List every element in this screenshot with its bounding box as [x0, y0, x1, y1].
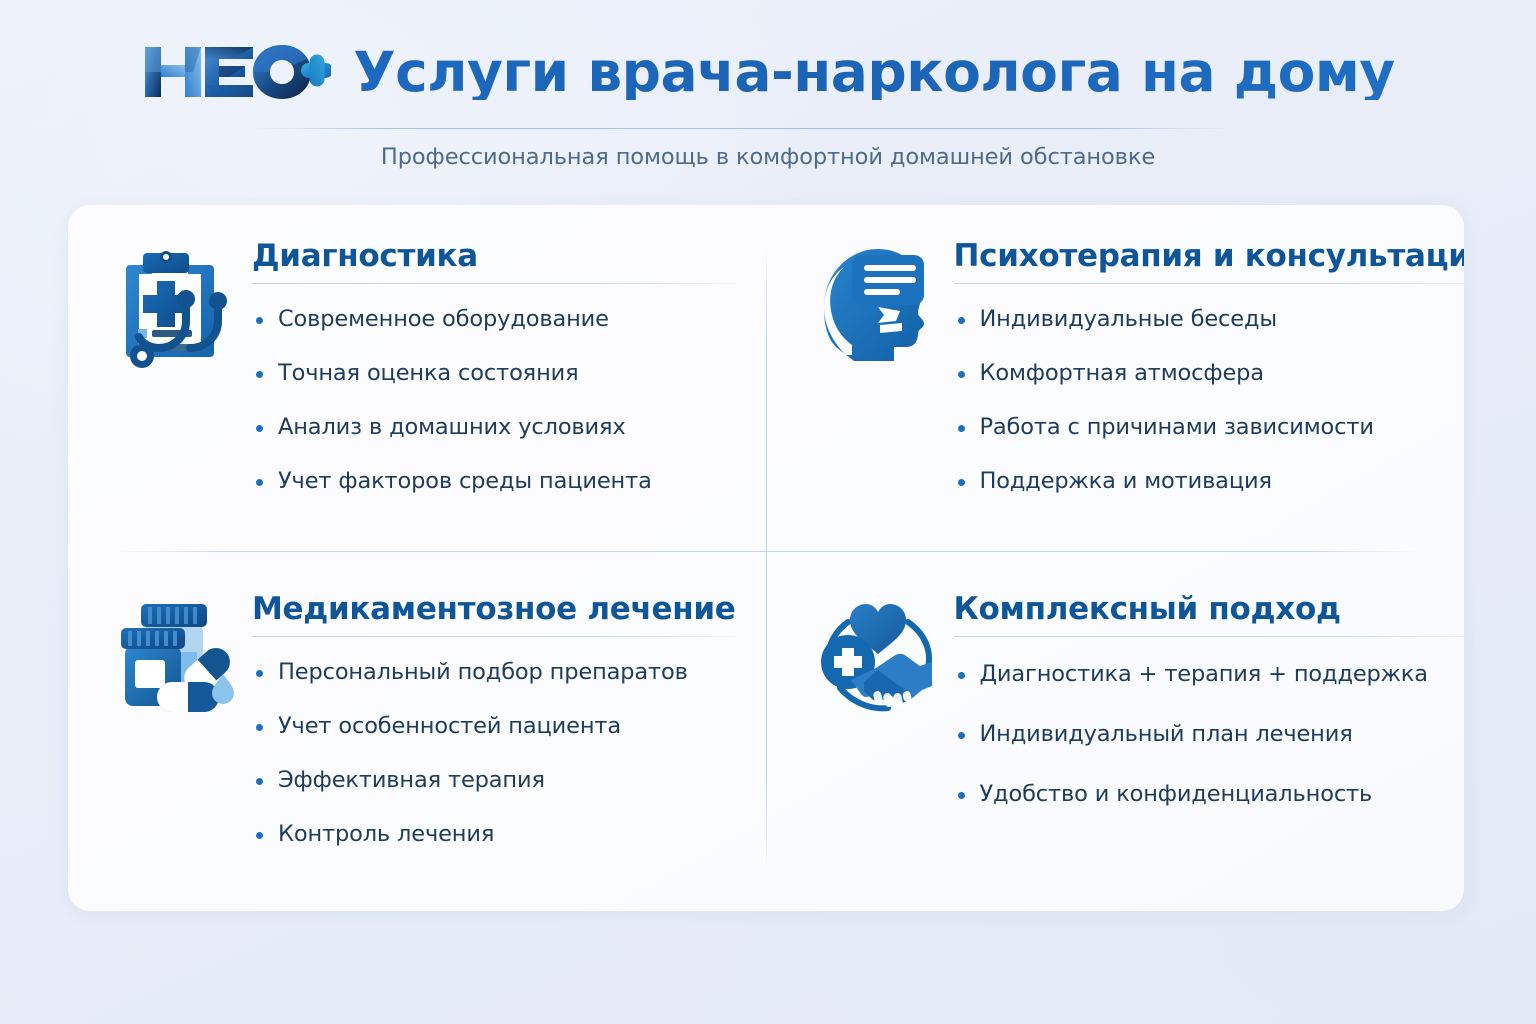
header-divider: [252, 128, 1232, 129]
page-subtitle: Профессиональная помощь в комфортной дом…: [0, 144, 1536, 170]
list-item: Точная оценка состояния: [252, 360, 736, 387]
head-speech-bubble-icon: [812, 243, 944, 375]
card-title-divider: [252, 283, 736, 284]
neo-plus-logo: [141, 40, 331, 104]
list-item: Диагностика + терапия + поддержка: [954, 661, 1465, 688]
card-medication[interactable]: Медикаментозное лечение Персональный под…: [68, 558, 770, 911]
list-item: Эффективная терапия: [252, 767, 736, 794]
card-bullet-list: Современное оборудование Точная оценка с…: [252, 306, 736, 495]
heart-handshake-cross-icon: [812, 596, 944, 728]
list-item: Анализ в домашних условиях: [252, 414, 736, 441]
card-psychotherapy[interactable]: Психотерапия и консультации Индивидуальн…: [770, 205, 1465, 558]
list-item: Учет особенностей пациента: [252, 713, 736, 740]
infographic-page: Услуги врача-нарколога на дому Профессио…: [0, 0, 1536, 1024]
card-bullet-list: Персональный подбор препаратов Учет особ…: [252, 659, 736, 848]
list-item: Современное оборудование: [252, 306, 736, 333]
list-item: Удобство и конфиденциальность: [954, 781, 1465, 808]
card-body: Диагностика Современное оборудование Точ…: [252, 231, 736, 495]
header: Услуги врача-нарколога на дому Профессио…: [0, 0, 1536, 196]
list-item: Контроль лечения: [252, 821, 736, 848]
pill-bottles-icon: [110, 596, 242, 728]
logo-letter-h: [145, 47, 201, 97]
header-row: Услуги врача-нарколога на дому: [0, 40, 1536, 104]
list-item: Индивидуальный план лечения: [954, 721, 1465, 748]
card-title: Диагностика: [252, 239, 736, 274]
grid-divider-vertical: [766, 241, 767, 875]
list-item: Работа с причинами зависимости: [954, 414, 1465, 441]
card-body: Комплексный подход Диагностика + терапия…: [954, 584, 1465, 841]
card-diagnostics[interactable]: Диагностика Современное оборудование Точ…: [68, 205, 770, 558]
clipboard-stethoscope-icon: [110, 243, 242, 375]
list-item: Комфортная атмосфера: [954, 360, 1465, 387]
card-title-divider: [954, 283, 1465, 284]
card-title-divider: [252, 636, 736, 637]
card-title: Психотерапия и консультации: [954, 239, 1465, 274]
page-title: Услуги врача-нарколога на дому: [353, 45, 1395, 100]
services-panel: Диагностика Современное оборудование Точ…: [68, 205, 1464, 911]
logo-letter-e: [205, 47, 253, 97]
list-item: Поддержка и мотивация: [954, 468, 1465, 495]
card-bullet-list: Индивидуальные беседы Комфортная атмосфе…: [954, 306, 1465, 495]
card-title-divider: [954, 636, 1465, 637]
card-title: Комплексный подход: [954, 592, 1465, 627]
card-complex-approach[interactable]: Комплексный подход Диагностика + терапия…: [770, 558, 1465, 911]
card-body: Психотерапия и консультации Индивидуальн…: [954, 231, 1465, 495]
card-title: Медикаментозное лечение: [252, 592, 736, 627]
list-item: Учет факторов среды пациента: [252, 468, 736, 495]
grid-divider-horizontal: [112, 551, 1420, 552]
list-item: Индивидуальные беседы: [954, 306, 1465, 333]
list-item: Персональный подбор препаратов: [252, 659, 736, 686]
card-body: Медикаментозное лечение Персональный под…: [252, 584, 736, 848]
card-bullet-list: Диагностика + терапия + поддержка Индиви…: [954, 661, 1465, 808]
